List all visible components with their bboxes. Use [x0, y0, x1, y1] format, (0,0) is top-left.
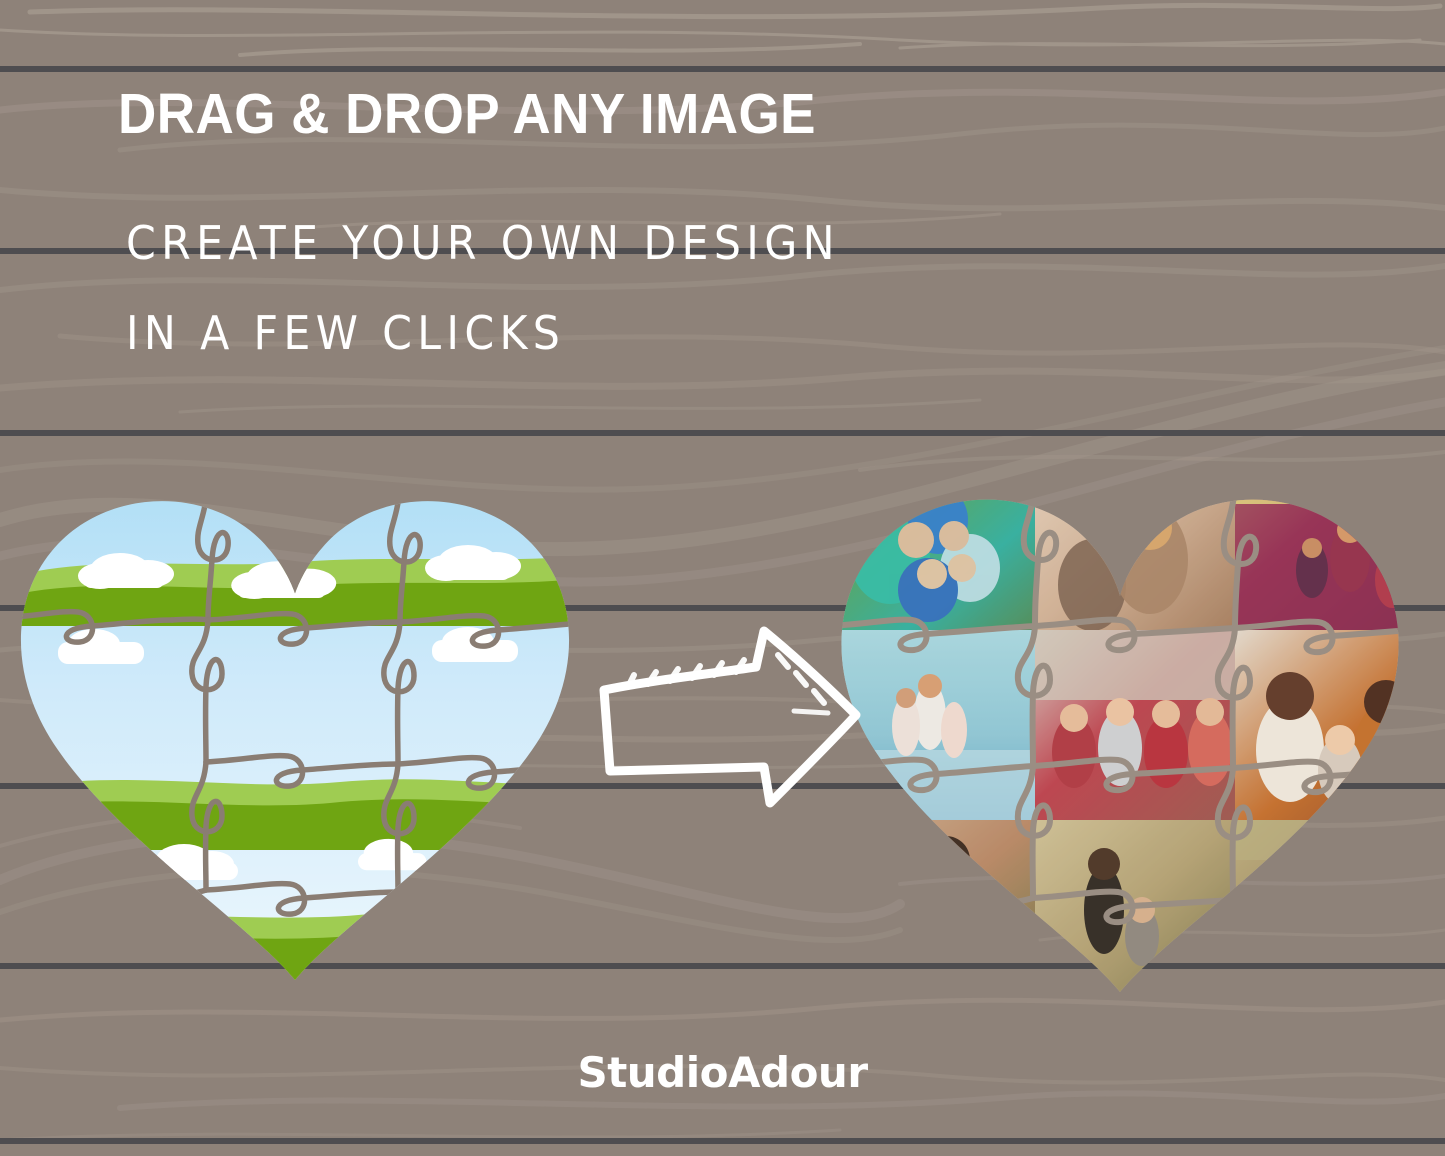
hand-drawn-right-arrow-icon [588, 615, 873, 825]
left-heart-puzzle-landscape [0, 440, 620, 985]
photo-collage-group [820, 440, 1445, 1000]
landscape-scene [0, 440, 620, 985]
promotional-graphic: DRAG & DROP ANY IMAGE CREATE YOUR OWN DE… [0, 0, 1445, 1156]
right-heart-photo-collage-puzzle [820, 440, 1445, 1000]
